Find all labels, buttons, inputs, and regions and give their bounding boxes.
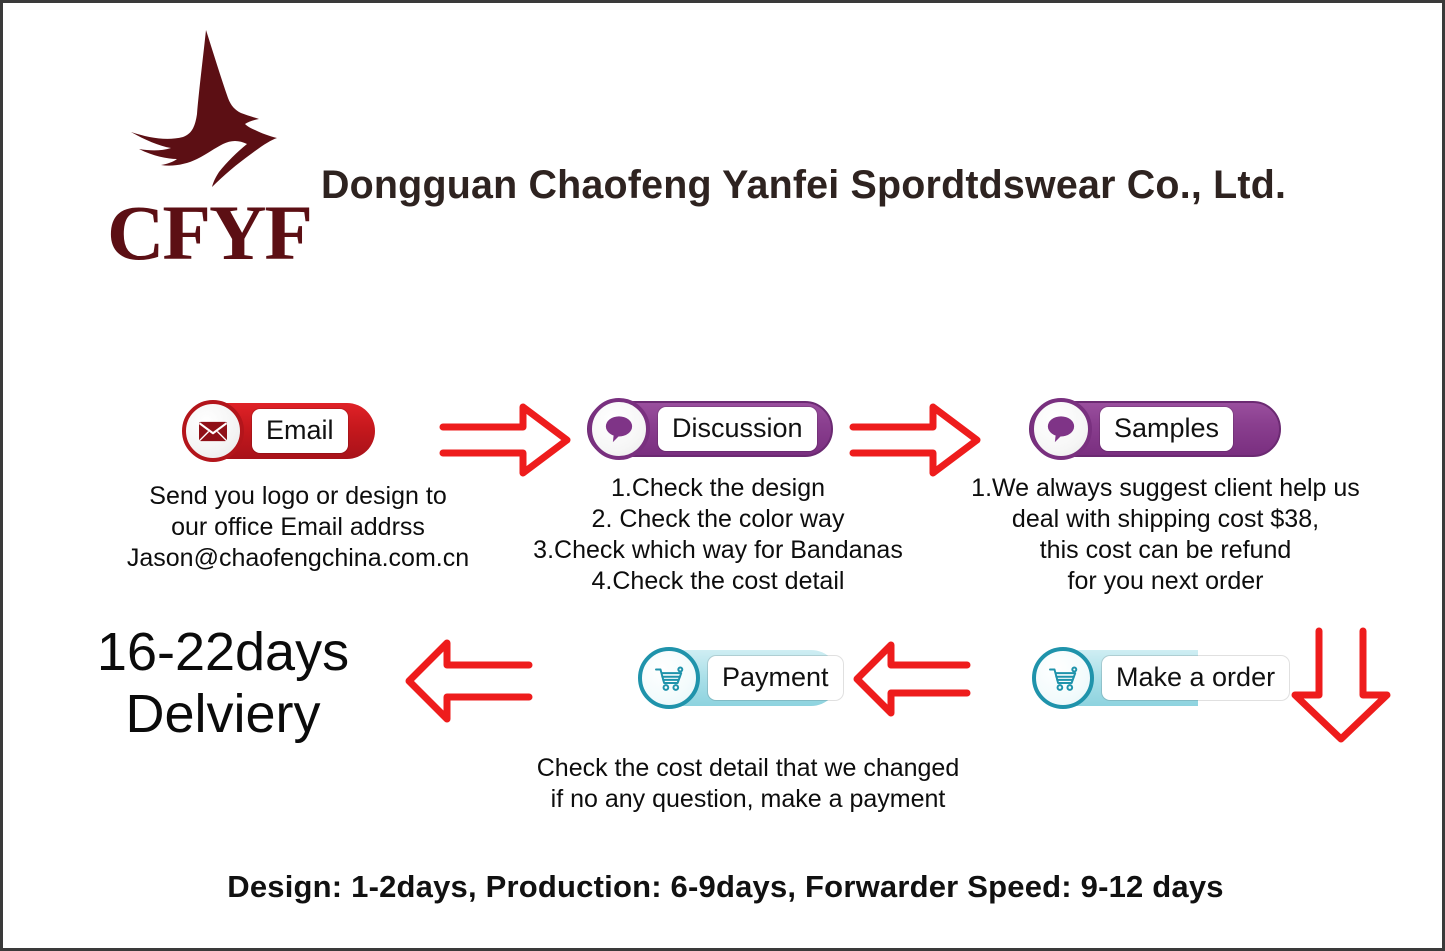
header: CFYF Dongguan Chaofeng Yanfei Spordtdswe… — [3, 3, 1445, 293]
step-label-make-a-order: Make a order — [1102, 656, 1289, 700]
step-caption-payment: Check the cost detail that we changed if… — [498, 753, 998, 815]
arrow-down-samples-to-order — [1287, 623, 1395, 750]
arrow-right-email-to-discussion — [435, 401, 575, 484]
step-label-samples: Samples — [1100, 407, 1233, 451]
step-badge-payment[interactable]: Payment — [639, 650, 839, 706]
step-label-email: Email — [252, 409, 348, 453]
envelope-icon — [182, 400, 244, 462]
arrow-right-discussion-to-samples — [845, 401, 985, 484]
arrow-left-order-to-payment — [849, 637, 975, 726]
speech-bubble-icon — [1030, 398, 1092, 460]
shopping-cart-icon — [638, 647, 700, 709]
step-badge-samples[interactable]: Samples — [1029, 401, 1281, 457]
step-badge-email[interactable]: Email — [183, 403, 375, 459]
step-badge-discussion[interactable]: Discussion — [587, 401, 833, 457]
step-caption-samples: 1.We always suggest client help us deal … — [943, 473, 1388, 597]
step-caption-email: Send you logo or design to our office Em… — [103, 481, 493, 574]
step-label-payment: Payment — [708, 656, 843, 700]
footer-summary-text: Design: 1-2days, Production: 6-9days, Fo… — [3, 869, 1445, 905]
speech-bubble-icon — [588, 398, 650, 460]
arrow-left-payment-to-delivery — [401, 635, 537, 732]
logo-wordmark: CFYF — [107, 193, 311, 273]
company-title: Dongguan Chaofeng Yanfei Spordtdswear Co… — [321, 161, 1365, 209]
step-badge-make-a-order[interactable]: Make a order — [1033, 650, 1198, 706]
step-caption-discussion: 1.Check the design 2. Check the color wa… — [508, 473, 928, 597]
shopping-cart-icon — [1032, 647, 1094, 709]
swallow-bird-icon — [111, 28, 296, 188]
flyer-page: CFYF Dongguan Chaofeng Yanfei Spordtdswe… — [0, 0, 1445, 951]
step-label-discussion: Discussion — [658, 407, 817, 451]
delivery-time-text: 16-22days Delviery — [38, 621, 408, 745]
